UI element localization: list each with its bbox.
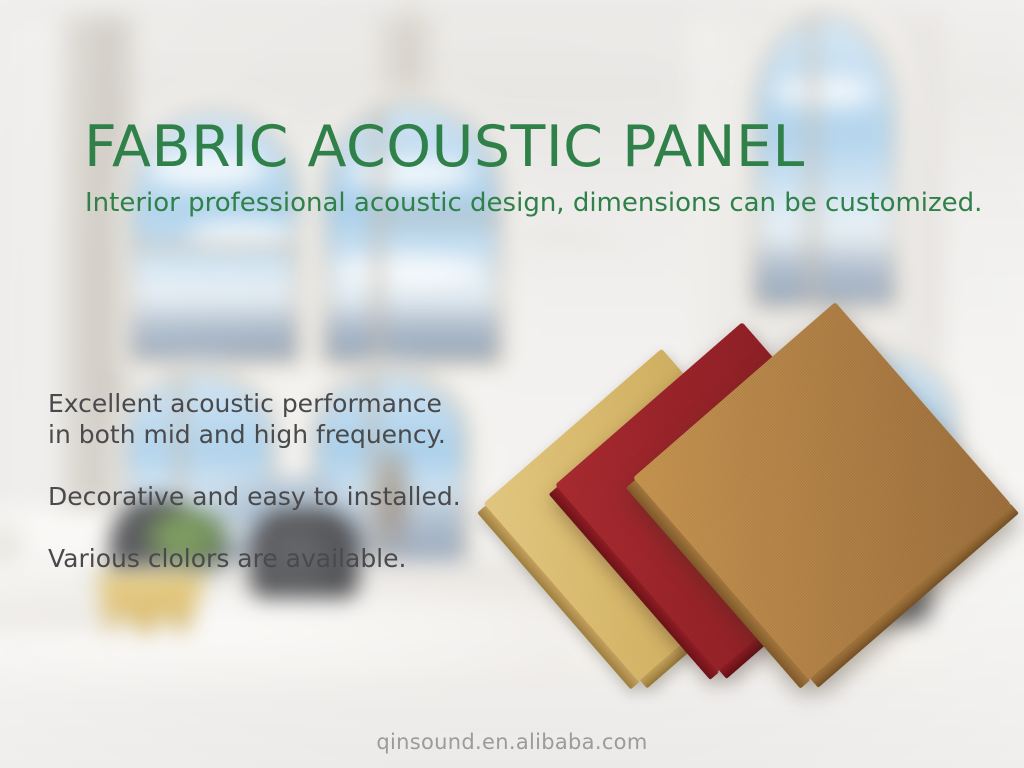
feature-line-1: Excellent acoustic performance <box>48 388 461 419</box>
promo-banner: FABRIC ACOUSTIC PANEL Interior professio… <box>0 0 1024 768</box>
feature-line-3: Decorative and easy to installed. <box>48 481 461 512</box>
product-panel-stack <box>520 345 1024 755</box>
feature-line-2: in both mid and high frequency. <box>48 419 461 450</box>
skyline-shape <box>327 301 497 359</box>
window-mullion-vertical <box>809 17 816 303</box>
spacer <box>48 450 461 481</box>
window-mullion-horizontal <box>133 244 295 250</box>
cloud-shape <box>773 77 877 107</box>
spacer <box>48 512 461 543</box>
skyline-shape <box>757 239 893 303</box>
watermark-url: qinsound.en.alibaba.com <box>0 730 1024 754</box>
page-title: FABRIC ACOUSTIC PANEL <box>84 118 805 178</box>
feature-list: Excellent acoustic performance in both m… <box>48 388 461 574</box>
skyline-shape <box>133 302 295 358</box>
cloud-shape <box>335 255 485 285</box>
feature-line-4: Various clolors are available. <box>48 543 461 574</box>
page-subtitle: Interior professional acoustic design, d… <box>85 188 982 219</box>
